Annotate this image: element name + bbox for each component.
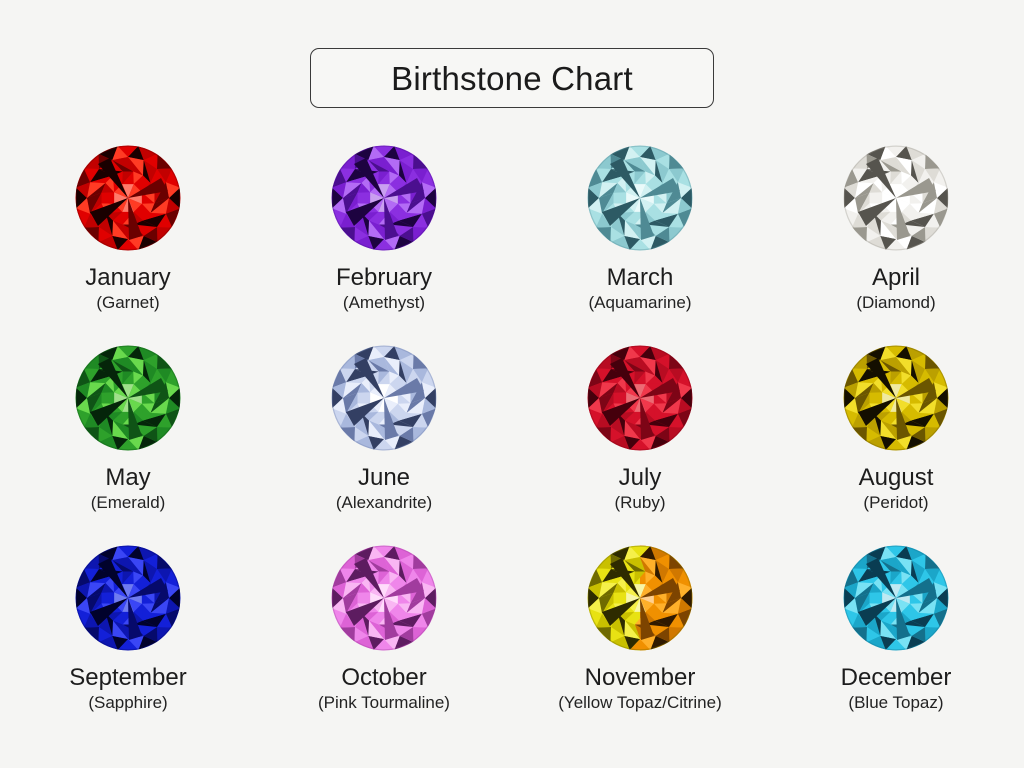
birthstone-cell: October(Pink Tourmaline) <box>256 545 512 745</box>
stone-label: (Amethyst) <box>343 294 425 312</box>
birthstone-cell: February(Amethyst) <box>256 145 512 345</box>
gem-aquamarine-icon <box>587 145 693 251</box>
stone-label: (Diamond) <box>856 294 935 312</box>
stone-label: (Pink Tourmaline) <box>318 694 450 712</box>
month-label: August <box>859 465 934 490</box>
month-label: July <box>619 465 662 490</box>
gem-blue-topaz-icon <box>843 545 949 651</box>
stone-label: (Blue Topaz) <box>848 694 943 712</box>
gem-peridot-icon <box>843 345 949 451</box>
gem-graphic <box>331 545 437 651</box>
gem-emerald-icon <box>75 345 181 451</box>
month-label: June <box>358 465 410 490</box>
birthstone-cell: August(Peridot) <box>768 345 1024 545</box>
gem-graphic <box>587 145 693 251</box>
birthstone-cell: April(Diamond) <box>768 145 1024 345</box>
stone-label: (Garnet) <box>96 294 159 312</box>
gem-pink-tourmaline-icon <box>331 545 437 651</box>
birthstone-cell: January(Garnet) <box>0 145 256 345</box>
month-label: October <box>341 665 426 690</box>
month-label: January <box>85 265 170 290</box>
gem-alexandrite-icon <box>331 345 437 451</box>
gem-graphic <box>587 345 693 451</box>
gem-amethyst-icon <box>331 145 437 251</box>
month-label: November <box>585 665 696 690</box>
birthstone-cell: November(Yellow Topaz/Citrine) <box>512 545 768 745</box>
stone-label: (Ruby) <box>614 494 665 512</box>
page-title: Birthstone Chart <box>391 62 633 95</box>
stone-label: (Alexandrite) <box>336 494 432 512</box>
gem-graphic <box>75 145 181 251</box>
stone-label: (Sapphire) <box>88 694 167 712</box>
month-label: February <box>336 265 432 290</box>
stone-label: (Peridot) <box>863 494 928 512</box>
month-label: May <box>105 465 150 490</box>
chart-title-box: Birthstone Chart <box>310 48 714 108</box>
birthstone-chart-page: Birthstone Chart January(Garnet)February… <box>0 0 1024 768</box>
gem-diamond-icon <box>843 145 949 251</box>
birthstone-cell: March(Aquamarine) <box>512 145 768 345</box>
birthstone-cell: June(Alexandrite) <box>256 345 512 545</box>
month-label: April <box>872 265 920 290</box>
gem-graphic <box>843 145 949 251</box>
birthstone-grid: January(Garnet)February(Amethyst)March(A… <box>0 145 1024 745</box>
gem-graphic <box>331 345 437 451</box>
gem-garnet-icon <box>75 145 181 251</box>
stone-label: (Yellow Topaz/Citrine) <box>558 694 721 712</box>
gem-graphic <box>843 545 949 651</box>
gem-graphic <box>75 545 181 651</box>
gem-sapphire-icon <box>75 545 181 651</box>
gem-graphic <box>587 545 693 651</box>
gem-graphic <box>75 345 181 451</box>
stone-label: (Emerald) <box>91 494 166 512</box>
month-label: September <box>69 665 186 690</box>
birthstone-cell: September(Sapphire) <box>0 545 256 745</box>
birthstone-cell: December(Blue Topaz) <box>768 545 1024 745</box>
gem-graphic <box>331 145 437 251</box>
gem-ruby-icon <box>587 345 693 451</box>
month-label: March <box>607 265 674 290</box>
birthstone-cell: May(Emerald) <box>0 345 256 545</box>
month-label: December <box>841 665 952 690</box>
birthstone-cell: July(Ruby) <box>512 345 768 545</box>
gem-graphic <box>843 345 949 451</box>
stone-label: (Aquamarine) <box>589 294 692 312</box>
gem-yellow-topaz-citrine-icon <box>587 545 693 651</box>
